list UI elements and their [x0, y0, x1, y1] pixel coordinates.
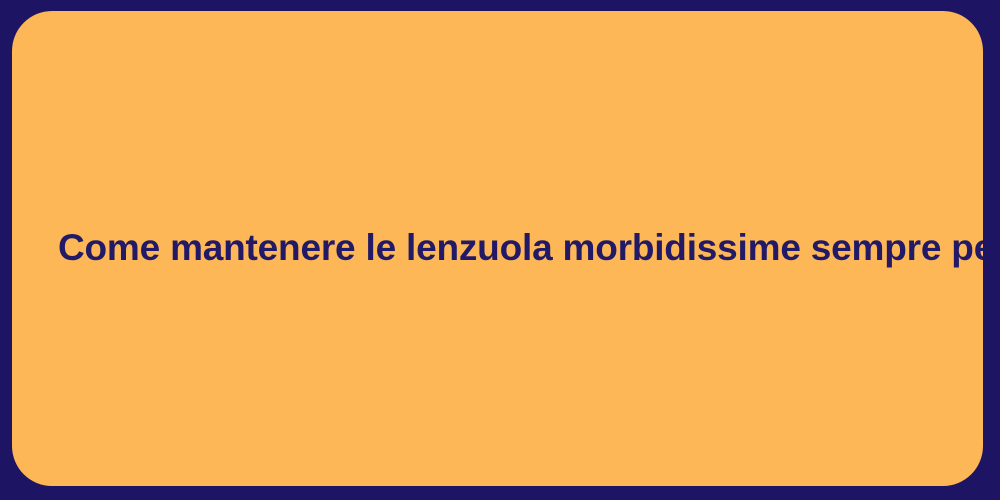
banner-heading: Come mantenere le lenzuola morbidissime … — [58, 225, 983, 271]
banner-panel: Come mantenere le lenzuola morbidissime … — [12, 11, 983, 486]
banner-frame: Come mantenere le lenzuola morbidissime … — [0, 0, 1000, 500]
